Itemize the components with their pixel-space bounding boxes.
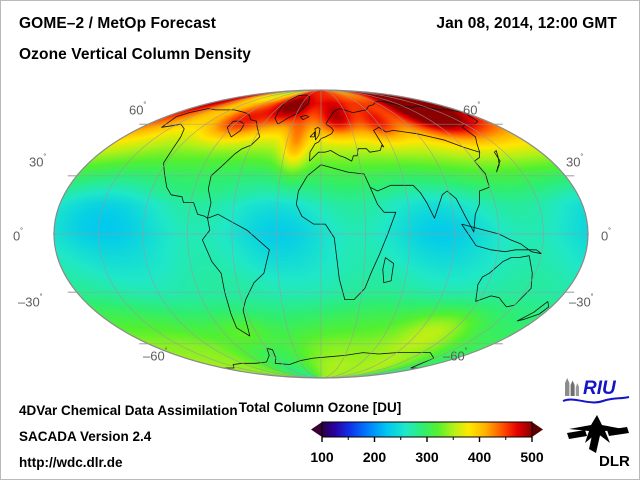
colorbar-tick-100: 100 [310, 449, 333, 465]
footer-line-2: SACADA Version 2.4 [19, 429, 151, 444]
lat-label-right-30: 30˚ [566, 153, 583, 169]
dlr-logo: DLR [563, 413, 633, 469]
footer-line-3: http://wdc.dlr.de [19, 455, 123, 470]
colorbar-tick-400: 400 [468, 449, 491, 465]
dlr-logo-text: DLR [599, 453, 630, 469]
page-title-line2: Ozone Vertical Column Density [19, 46, 251, 64]
lat-label-right-m60: –60˚ [443, 347, 468, 363]
colorbar-tick-300: 300 [415, 449, 438, 465]
riu-towers-icon [565, 378, 579, 396]
ozone-map [53, 89, 589, 379]
colorbar: 100200300400500 [311, 421, 543, 467]
riu-logo: RIU [559, 375, 633, 407]
colorbar-tick-200: 200 [363, 449, 386, 465]
lat-label-left-m30: –30˚ [18, 293, 43, 309]
lat-label-left-60: 60˚ [129, 101, 146, 117]
colorbar-title: Total Column Ozone [DU] [1, 400, 639, 415]
lat-label-right-m30: –30˚ [569, 293, 594, 309]
lat-label-left-0: 0˚ [13, 227, 23, 243]
riu-logo-text: RIU [583, 378, 617, 399]
colorbar-low-arrow [311, 422, 322, 437]
colorbar-tick-500: 500 [520, 449, 543, 465]
lat-label-right-0: 0˚ [601, 227, 611, 243]
mollweide-map-svg [53, 89, 589, 379]
lat-label-right-60: 60˚ [463, 101, 480, 117]
ozone-forecast-page: GOME–2 / MetOp Forecast Ozone Vertical C… [0, 0, 640, 480]
page-title-line1: GOME–2 / MetOp Forecast [19, 15, 216, 33]
colorbar-gradient [322, 422, 532, 437]
colorbar-svg [311, 421, 543, 449]
colorbar-high-arrow [532, 422, 543, 437]
lat-label-left-30: 30˚ [29, 153, 46, 169]
forecast-datetime: Jan 08, 2014, 12:00 GMT [436, 15, 617, 33]
dlr-mark-icon [567, 415, 629, 453]
lat-label-left-m60: –60˚ [143, 347, 168, 363]
